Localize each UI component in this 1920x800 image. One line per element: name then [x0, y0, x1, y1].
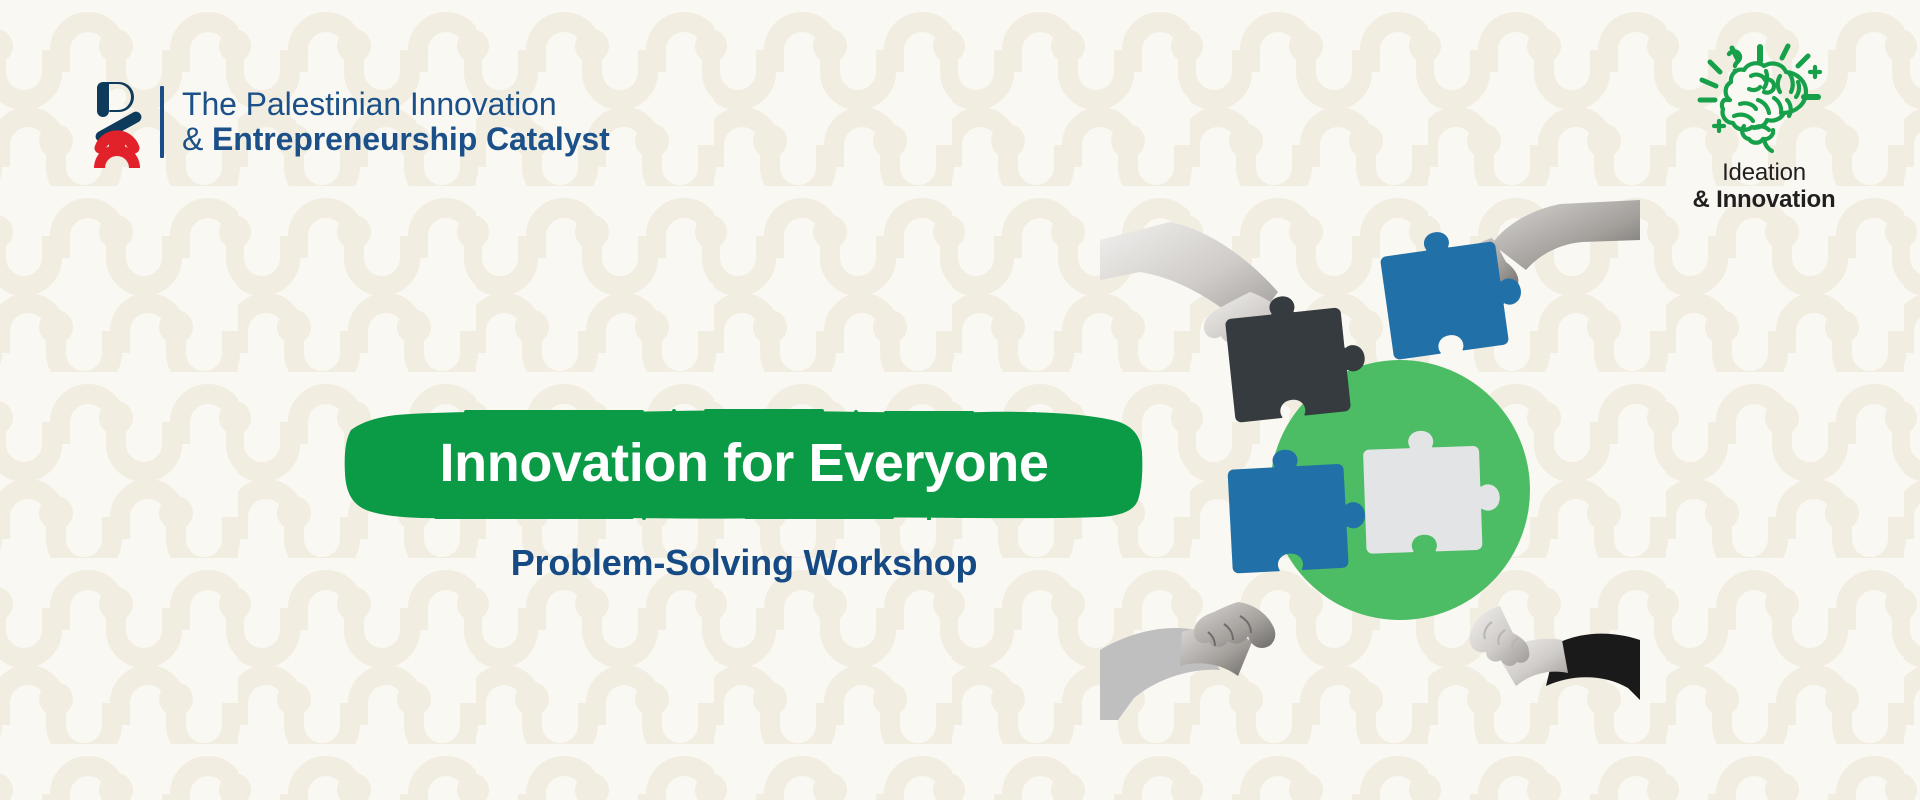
hands-puzzle-collage [1100, 200, 1640, 720]
piec-line-2: & Entrepreneurship Catalyst [182, 122, 610, 157]
headline-block: Innovation for Everyone [344, 408, 1144, 520]
piec-ampersand: & [182, 121, 212, 157]
logo-divider [160, 86, 164, 158]
piec-line-2-bold: Entrepreneurship Catalyst [212, 121, 610, 157]
subtitle-text: Problem-Solving Workshop [344, 542, 1144, 584]
ideation-innovation-logo[interactable]: Ideation & Innovation [1680, 38, 1848, 214]
hand-lower-right [1470, 606, 1640, 720]
banner-root: The Palestinian Innovation & Entrepreneu… [0, 0, 1920, 800]
headline-text: Innovation for Everyone [344, 408, 1144, 520]
ideation-wordmark: Ideation & Innovation [1693, 160, 1836, 214]
ideation-line-2: & Innovation [1693, 187, 1836, 214]
hero-image [1100, 200, 1640, 720]
piec-monogram-icon [88, 76, 146, 168]
piec-wordmark: The Palestinian Innovation & Entrepreneu… [182, 87, 610, 156]
ideation-line-1: Ideation [1693, 160, 1836, 187]
piec-logo[interactable]: The Palestinian Innovation & Entrepreneu… [88, 76, 610, 168]
hand-lower-left [1100, 602, 1275, 720]
brain-idea-icon [1688, 38, 1840, 156]
piec-line-1: The Palestinian Innovation [182, 87, 610, 122]
